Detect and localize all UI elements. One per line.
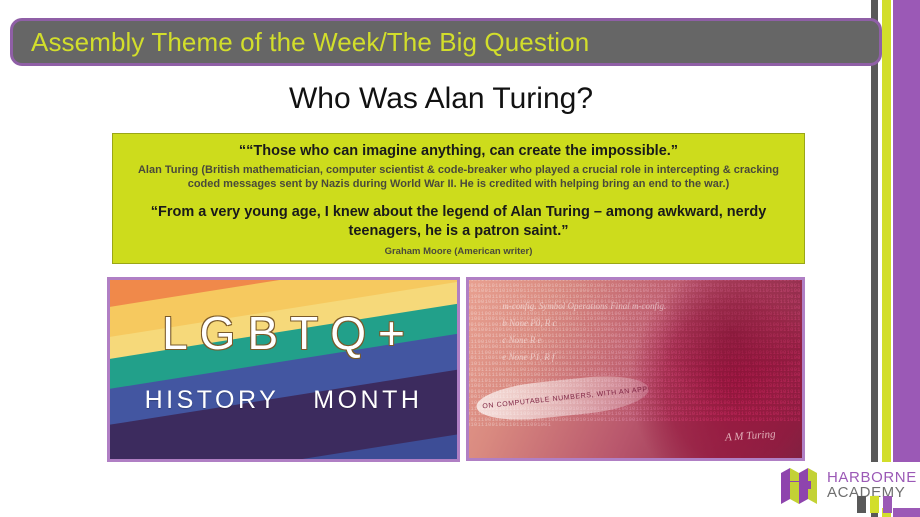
quote-one-attribution: Alan Turing (British mathematician, comp… [127,163,790,192]
slide-title: Assembly Theme of the Week/The Big Quest… [13,27,589,58]
table-row: m-config. Symbol Operations Final m-conf… [502,298,675,315]
slide-title-bar: Assembly Theme of the Week/The Big Quest… [10,18,882,66]
alan-turing-binary-portrait-image: 0100110101010011011010010111010001010011… [466,277,805,461]
harborne-academy-logo: HARBORNE ACADEMY [778,462,920,508]
edge-stripe-lime [882,0,891,517]
footer-color-chips [857,496,892,513]
turing-machine-table: m-config. Symbol Operations Final m-conf… [502,298,675,369]
lgbtq-month-word: MONTH [313,386,422,415]
quote-one-text: ““Those who can imagine anything, can cr… [127,142,790,160]
lgbtq-wordmark: LGBTQ+ [110,310,457,356]
chip-lime [870,496,879,513]
binary-portrait-canvas: 0100110101010011011010010111010001010011… [469,280,802,458]
quote-two-text: “From a very young age, I knew about the… [127,203,790,242]
page-title: Who Was Alan Turing? [0,82,882,116]
table-row: e None P1, R f [502,349,675,366]
quote-box: ““Those who can imagine anything, can cr… [112,133,805,264]
chip-purple [883,496,892,513]
edge-stripe-gray [871,0,878,517]
lgbtq-subtitle: HISTORY MONTH [110,386,457,415]
chip-gray [857,496,866,513]
quote-two-attribution: Graham Moore (American writer) [127,246,790,257]
table-row: b None P0, R c [502,315,675,332]
harborne-h-mark-icon [778,465,820,505]
lgbtq-history-word: HISTORY [145,386,280,415]
edge-stripe-purple [893,0,920,517]
lgbtq-history-month-image: LGBTQ+ HISTORY MONTH [107,277,460,462]
table-row: c None R e [502,332,675,349]
logo-line-harborne: HARBORNE [827,470,917,485]
